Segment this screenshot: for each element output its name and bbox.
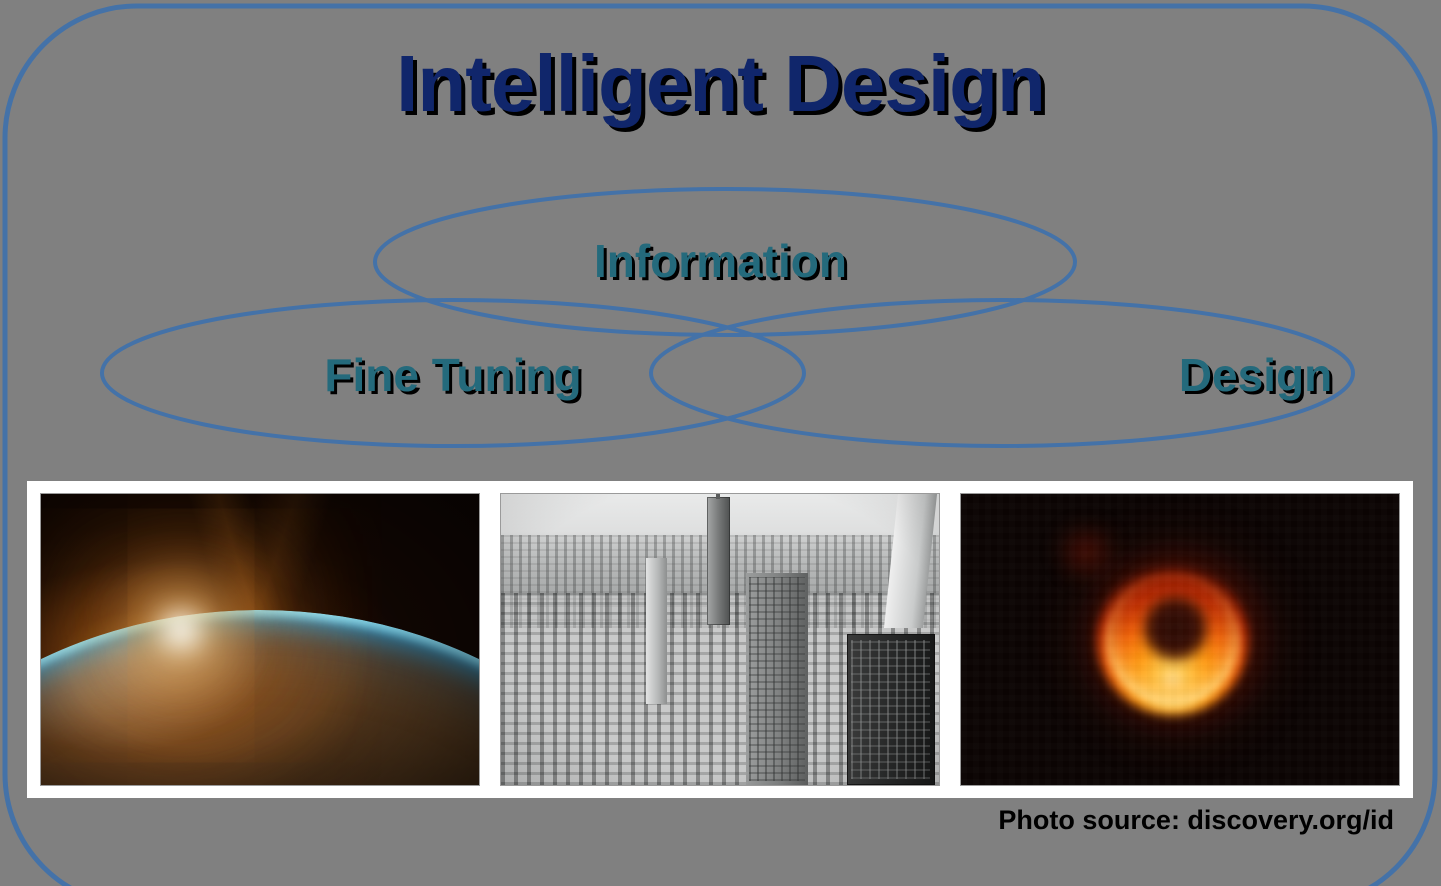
photo-vignette [501,494,939,785]
venn-label-information: Information [0,238,1441,284]
page-title: Intelligent Design [0,44,1441,124]
image-grain [961,494,1399,785]
photo-strip [27,481,1413,798]
photo-vignette [41,494,479,785]
slide-canvas: Intelligent Design Information Fine Tuni… [0,0,1441,886]
photo-city-skyline [500,493,940,786]
photo-black-hole [960,493,1400,786]
photo-earth-sunrise [40,493,480,786]
photo-credit: Photo source: discovery.org/id [998,805,1394,836]
venn-label-design: Design [535,352,1441,398]
